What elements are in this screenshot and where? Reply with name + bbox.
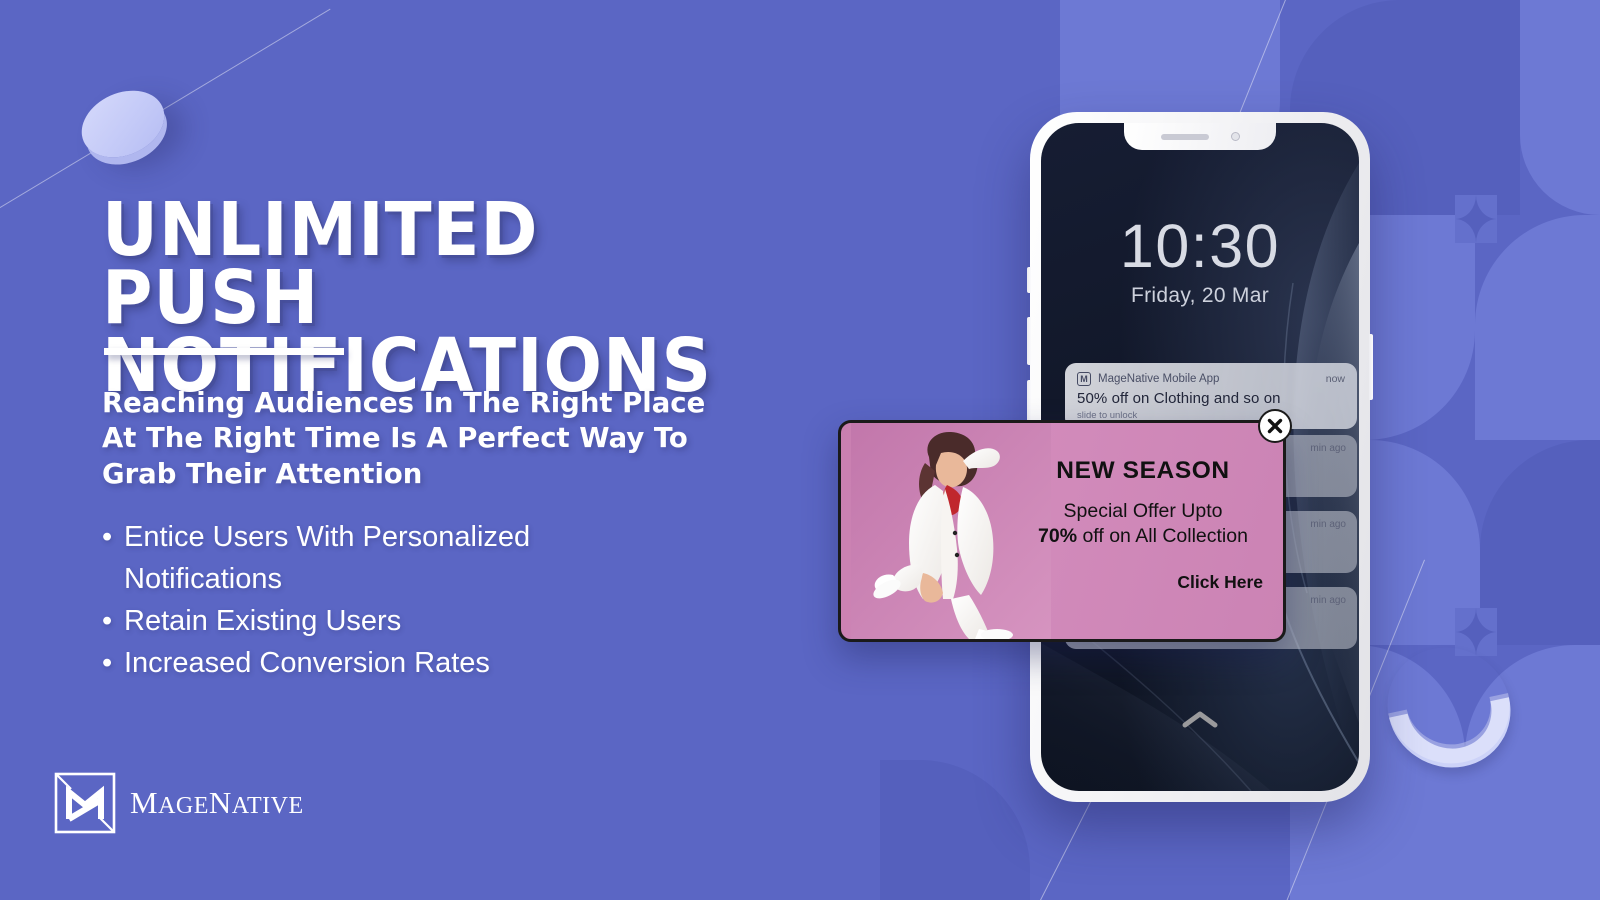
notification-timestamp: min ago bbox=[1310, 595, 1346, 606]
benefits-list: Entice Users With Personalized Notificat… bbox=[102, 516, 802, 684]
brand-logo: MAGENATIVE bbox=[54, 772, 304, 834]
list-item: Increased Conversion Rates bbox=[102, 642, 802, 684]
lockscreen-time: 10:30 bbox=[1041, 211, 1359, 281]
list-item: Retain Existing Users bbox=[102, 600, 802, 642]
page-title: UNLIMITED PUSH NOTIFICATIONS bbox=[102, 196, 753, 400]
promo-discount-rest: off on All Collection bbox=[1077, 525, 1248, 547]
magenative-monogram-icon bbox=[54, 772, 116, 834]
list-item: Entice Users With Personalized Notificat… bbox=[102, 516, 802, 600]
notification-timestamp: min ago bbox=[1310, 519, 1346, 530]
promo-discount: 70% bbox=[1038, 525, 1077, 547]
hero-copy: UNLIMITED PUSH NOTIFICATIONS Reaching Au… bbox=[102, 0, 822, 900]
front-camera-icon bbox=[1231, 132, 1240, 141]
phone-volume-up-button[interactable] bbox=[1027, 317, 1031, 365]
promo-cta-link[interactable]: Click Here bbox=[1017, 572, 1269, 593]
brand-wordmark: MAGENATIVE bbox=[130, 785, 304, 821]
earpiece-speaker-icon bbox=[1161, 134, 1209, 140]
close-icon[interactable] bbox=[1258, 409, 1292, 443]
promo-title: NEW SEASON bbox=[1017, 457, 1269, 485]
magenative-app-icon: M bbox=[1077, 372, 1091, 386]
phone-power-button[interactable] bbox=[1369, 334, 1373, 400]
phone-mute-switch[interactable] bbox=[1027, 267, 1031, 293]
promo-copy: NEW SEASON Special Offer Upto 70% off on… bbox=[1017, 457, 1269, 593]
notification-body: 50% off on Clothing and so on bbox=[1077, 390, 1345, 407]
lockscreen-date: Friday, 20 Mar bbox=[1041, 284, 1359, 308]
bg-tile bbox=[1520, 0, 1600, 215]
title-divider bbox=[104, 348, 344, 355]
hero-subheadline: Reaching Audiences In The Right Place At… bbox=[102, 386, 782, 492]
four-point-sparkle-icon bbox=[1455, 195, 1497, 243]
notification-app-name: MageNative Mobile App bbox=[1098, 373, 1219, 385]
chevron-up-icon[interactable] bbox=[1182, 710, 1218, 729]
phone-notch bbox=[1124, 123, 1276, 150]
promo-popup[interactable]: NEW SEASON Special Offer Upto 70% off on… bbox=[838, 420, 1286, 642]
promo-line-1: Special Offer Upto bbox=[1017, 500, 1269, 523]
bg-tile bbox=[1475, 215, 1600, 440]
bg-tile bbox=[880, 760, 1030, 900]
promo-line-2: 70% off on All Collection bbox=[1017, 525, 1269, 548]
notification-timestamp: min ago bbox=[1310, 443, 1346, 454]
notification-timestamp: now bbox=[1326, 373, 1345, 385]
bg-tile bbox=[1480, 440, 1600, 645]
notification-header: M MageNative Mobile App now bbox=[1077, 372, 1345, 386]
